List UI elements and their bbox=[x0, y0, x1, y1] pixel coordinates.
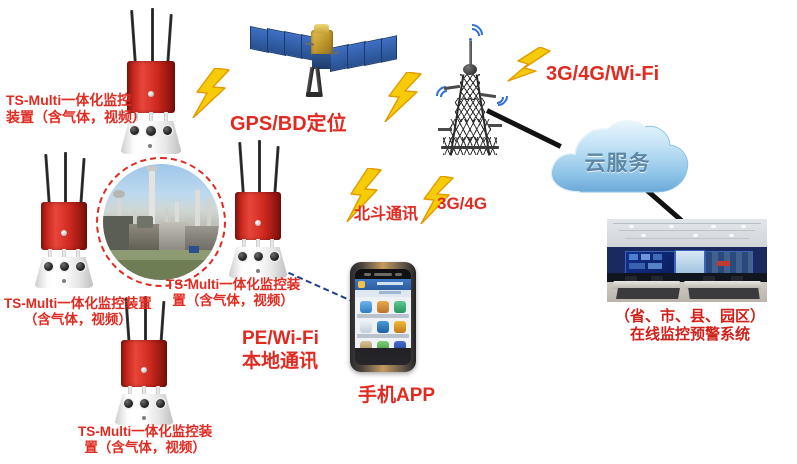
cloud-service: 云服务 bbox=[540, 114, 695, 202]
label-3g4g-wifi: 3G/4G/Wi-Fi bbox=[546, 62, 659, 86]
cell-tower bbox=[430, 24, 510, 158]
label-beidou: 北斗通讯 bbox=[354, 205, 418, 225]
refinery-plant-photo bbox=[96, 157, 226, 287]
device-mid-center bbox=[216, 140, 304, 282]
cloud-service-label: 云服务 bbox=[540, 147, 695, 177]
label-device-mid-center: TS-Multi一体化监控装 置（含气体，视频） bbox=[166, 277, 300, 310]
label-device-top-left: TS-Multi一体化监控 装置（含气体，视频） bbox=[6, 92, 146, 126]
device-top-left bbox=[106, 8, 198, 156]
lightning-satellite-to-tower bbox=[381, 72, 425, 122]
label-pe-wifi-local: PE/Wi-Fi 本地通讯 bbox=[242, 327, 319, 373]
satellite bbox=[248, 12, 396, 98]
label-3g4g: 3G/4G bbox=[437, 194, 487, 215]
label-device-mid-left: TS-Multi一体化监控装置 （含气体，视频） bbox=[4, 296, 152, 329]
label-gps-bd: GPS/BD定位 bbox=[230, 112, 347, 136]
app-screen[interactable] bbox=[355, 279, 411, 348]
label-phone-app: 手机APP bbox=[358, 384, 435, 407]
label-device-bottom: TS-Multi一体化监控装 置（含气体，视频） bbox=[78, 424, 212, 457]
control-center-photo bbox=[607, 219, 767, 302]
handheld-app-device[interactable] bbox=[350, 262, 416, 372]
label-control-center: （省、市、县、园区） 在线监控预警系统 bbox=[610, 308, 770, 345]
diagram-canvas: 云服务 bbox=[0, 0, 797, 464]
